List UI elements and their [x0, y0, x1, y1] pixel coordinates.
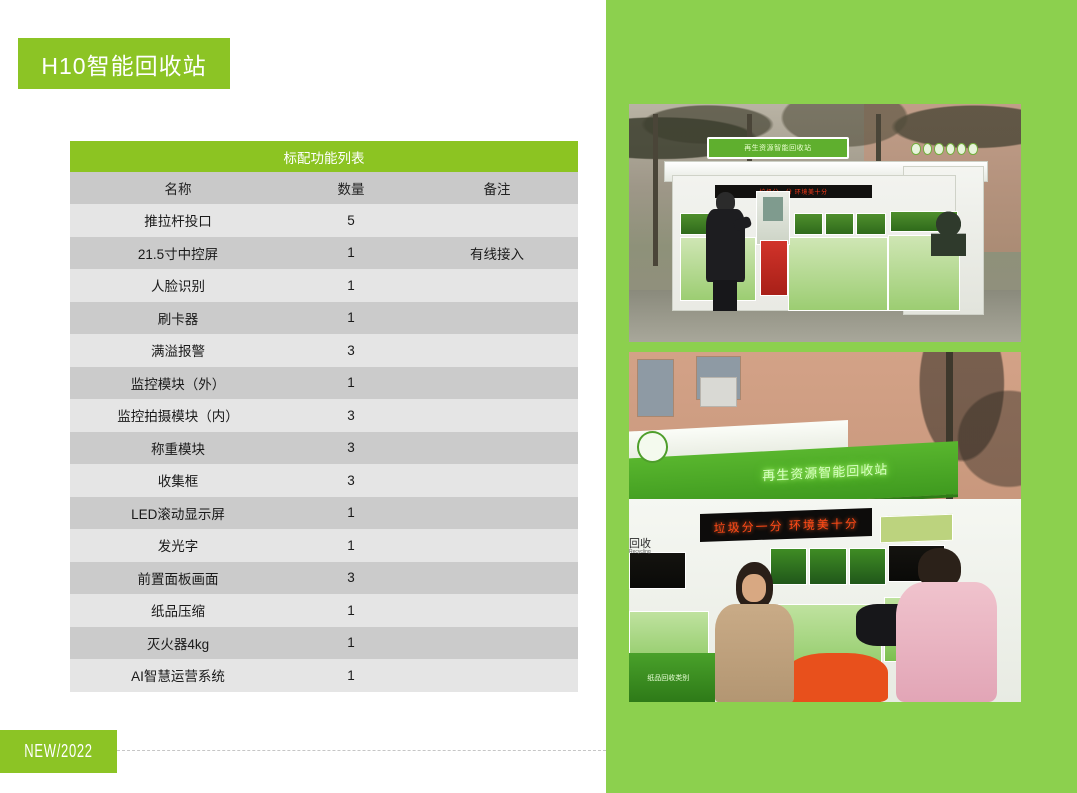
cell-note	[416, 302, 578, 335]
cell-qty: 1	[286, 594, 416, 627]
page-title-badge: H10智能回收站	[18, 38, 230, 89]
cell-qty: 1	[286, 367, 416, 400]
cell-note	[416, 659, 578, 692]
kiosk-control-screen	[756, 191, 789, 245]
table-row: 灭火器4kg 1	[70, 627, 578, 660]
standard-feature-table: 标配功能列表 名称 数量 备注 推拉杆投口 5 21.5寸中控屏 1 有线接入 …	[70, 141, 578, 692]
person-legs	[713, 280, 737, 311]
cell-qty: 1	[286, 497, 416, 530]
recycle-hands-logo-icon	[931, 209, 966, 257]
kiosk-category-icons	[911, 143, 978, 155]
kiosk-left-label-sub: Recycling	[629, 550, 651, 556]
table-caption: 标配功能列表	[70, 141, 578, 172]
table-row: 前置面板画面 3	[70, 562, 578, 595]
page-title: H10智能回收站	[41, 47, 206, 81]
recycle-icon	[923, 143, 932, 155]
cell-note	[416, 334, 578, 367]
table-row: 收集框 3	[70, 464, 578, 497]
cell-name: 满溢报警	[70, 334, 286, 367]
table-row: 发光字 1	[70, 529, 578, 562]
kiosk-round-logo-icon	[637, 431, 668, 463]
kiosk-front-graphic	[788, 237, 888, 310]
cell-note	[416, 497, 578, 530]
cell-name: 纸品压缩	[70, 594, 286, 627]
photo-person-left	[715, 562, 793, 702]
person-head	[736, 562, 774, 610]
photo-person-right	[896, 548, 998, 702]
cell-qty: 1	[286, 237, 416, 270]
product-photo-in-use: 再生资源智能回收站 垃圾分一分 环境美十分 回收 Recycling 纸品回收类…	[629, 352, 1021, 702]
cell-qty: 3	[286, 334, 416, 367]
kiosk-signboard: 再生资源智能回收站	[707, 137, 848, 158]
table-caption-row: 标配功能列表	[70, 141, 578, 172]
cell-qty: 1	[286, 269, 416, 302]
cell-name: AI智慧运营系统	[70, 659, 286, 692]
kiosk-deposit-hatch	[825, 213, 854, 234]
left-content-pane: H10智能回收站 标配功能列表 名称 数量 备注 推拉杆投口 5 21.5	[0, 0, 606, 793]
cell-name: 监控拍摄模块（内）	[70, 399, 286, 432]
cell-note	[416, 529, 578, 562]
person-coat	[896, 582, 998, 702]
kiosk-side-sign	[880, 513, 953, 542]
person-coat	[715, 604, 793, 702]
footer-divider	[117, 750, 606, 751]
cell-qty: 1	[286, 529, 416, 562]
cell-name: 监控模块（外）	[70, 367, 286, 400]
recycle-icon	[934, 143, 943, 155]
kiosk-deposit-hatch	[849, 548, 886, 585]
cell-qty: 3	[286, 399, 416, 432]
table-row: 称重模块 3	[70, 432, 578, 465]
column-header-note: 备注	[416, 172, 578, 204]
kiosk-bottom-label: 纸品回收类别	[629, 653, 715, 702]
table-row: LED滚动显示屏 1	[70, 497, 578, 530]
cell-note	[416, 399, 578, 432]
table-row: 人脸识别 1	[70, 269, 578, 302]
cell-name: LED滚动显示屏	[70, 497, 286, 530]
kiosk-left-label: 回收 Recycling	[629, 538, 651, 556]
cell-name: 称重模块	[70, 432, 286, 465]
kiosk-left-label-text: 回收	[629, 538, 651, 550]
column-header-name: 名称	[70, 172, 286, 204]
kiosk-deposit-hatch	[629, 552, 686, 589]
product-photo-exterior: 再生资源智能回收站 垃圾分一分 环境美十分	[629, 104, 1021, 342]
cell-qty: 3	[286, 464, 416, 497]
air-conditioner-unit	[700, 377, 737, 407]
recycle-icon	[968, 143, 977, 155]
photo-person-using-kiosk	[703, 192, 746, 311]
cell-qty: 1	[286, 302, 416, 335]
cell-note	[416, 367, 578, 400]
right-photo-panel: 再生资源智能回收站 垃圾分一分 环境美十分	[606, 0, 1077, 793]
footer-version-label: NEW/2022	[24, 741, 92, 762]
table-row: 推拉杆投口 5	[70, 204, 578, 237]
kiosk-led-text: 垃圾分一分 环境美十分	[713, 514, 858, 536]
footer-version-badge: NEW/2022	[0, 730, 117, 773]
cell-name: 21.5寸中控屏	[70, 237, 286, 270]
table-row: 监控拍摄模块（内） 3	[70, 399, 578, 432]
table-row: 满溢报警 3	[70, 334, 578, 367]
cell-qty: 5	[286, 204, 416, 237]
cell-name: 收集框	[70, 464, 286, 497]
recycle-icon	[946, 143, 955, 155]
cell-qty: 1	[286, 659, 416, 692]
recycle-icon	[957, 143, 966, 155]
cell-note	[416, 627, 578, 660]
cell-note: 有线接入	[416, 237, 578, 270]
table-row: 纸品压缩 1	[70, 594, 578, 627]
cell-note	[416, 562, 578, 595]
cell-note	[416, 432, 578, 465]
table-body: 推拉杆投口 5 21.5寸中控屏 1 有线接入 人脸识别 1 刷卡器 1 满溢报…	[70, 204, 578, 692]
cell-note	[416, 269, 578, 302]
photo-orange-bag	[786, 653, 888, 702]
photo-tree-trunk	[653, 114, 658, 266]
kiosk-deposit-hatch	[809, 548, 846, 585]
cell-qty: 3	[286, 432, 416, 465]
cell-name: 推拉杆投口	[70, 204, 286, 237]
cell-note	[416, 464, 578, 497]
table-row: 21.5寸中控屏 1 有线接入	[70, 237, 578, 270]
cell-name: 发光字	[70, 529, 286, 562]
table-row: AI智慧运营系统 1	[70, 659, 578, 692]
column-header-qty: 数量	[286, 172, 416, 204]
cell-note	[416, 204, 578, 237]
kiosk-deposit-hatch	[856, 213, 885, 234]
cell-note	[416, 594, 578, 627]
building-window	[637, 359, 674, 417]
cell-name: 前置面板画面	[70, 562, 286, 595]
kiosk-sign-text: 再生资源智能回收站	[707, 137, 848, 158]
cell-qty: 1	[286, 627, 416, 660]
kiosk-red-cabinet	[760, 240, 787, 297]
cell-qty: 3	[286, 562, 416, 595]
kiosk-deposit-hatch	[794, 213, 823, 234]
table-header-row: 名称 数量 备注	[70, 172, 578, 204]
recycle-icon	[911, 143, 920, 155]
table-row: 刷卡器 1	[70, 302, 578, 335]
cell-name: 灭火器4kg	[70, 627, 286, 660]
cell-name: 刷卡器	[70, 302, 286, 335]
cell-name: 人脸识别	[70, 269, 286, 302]
table-row: 监控模块（外） 1	[70, 367, 578, 400]
